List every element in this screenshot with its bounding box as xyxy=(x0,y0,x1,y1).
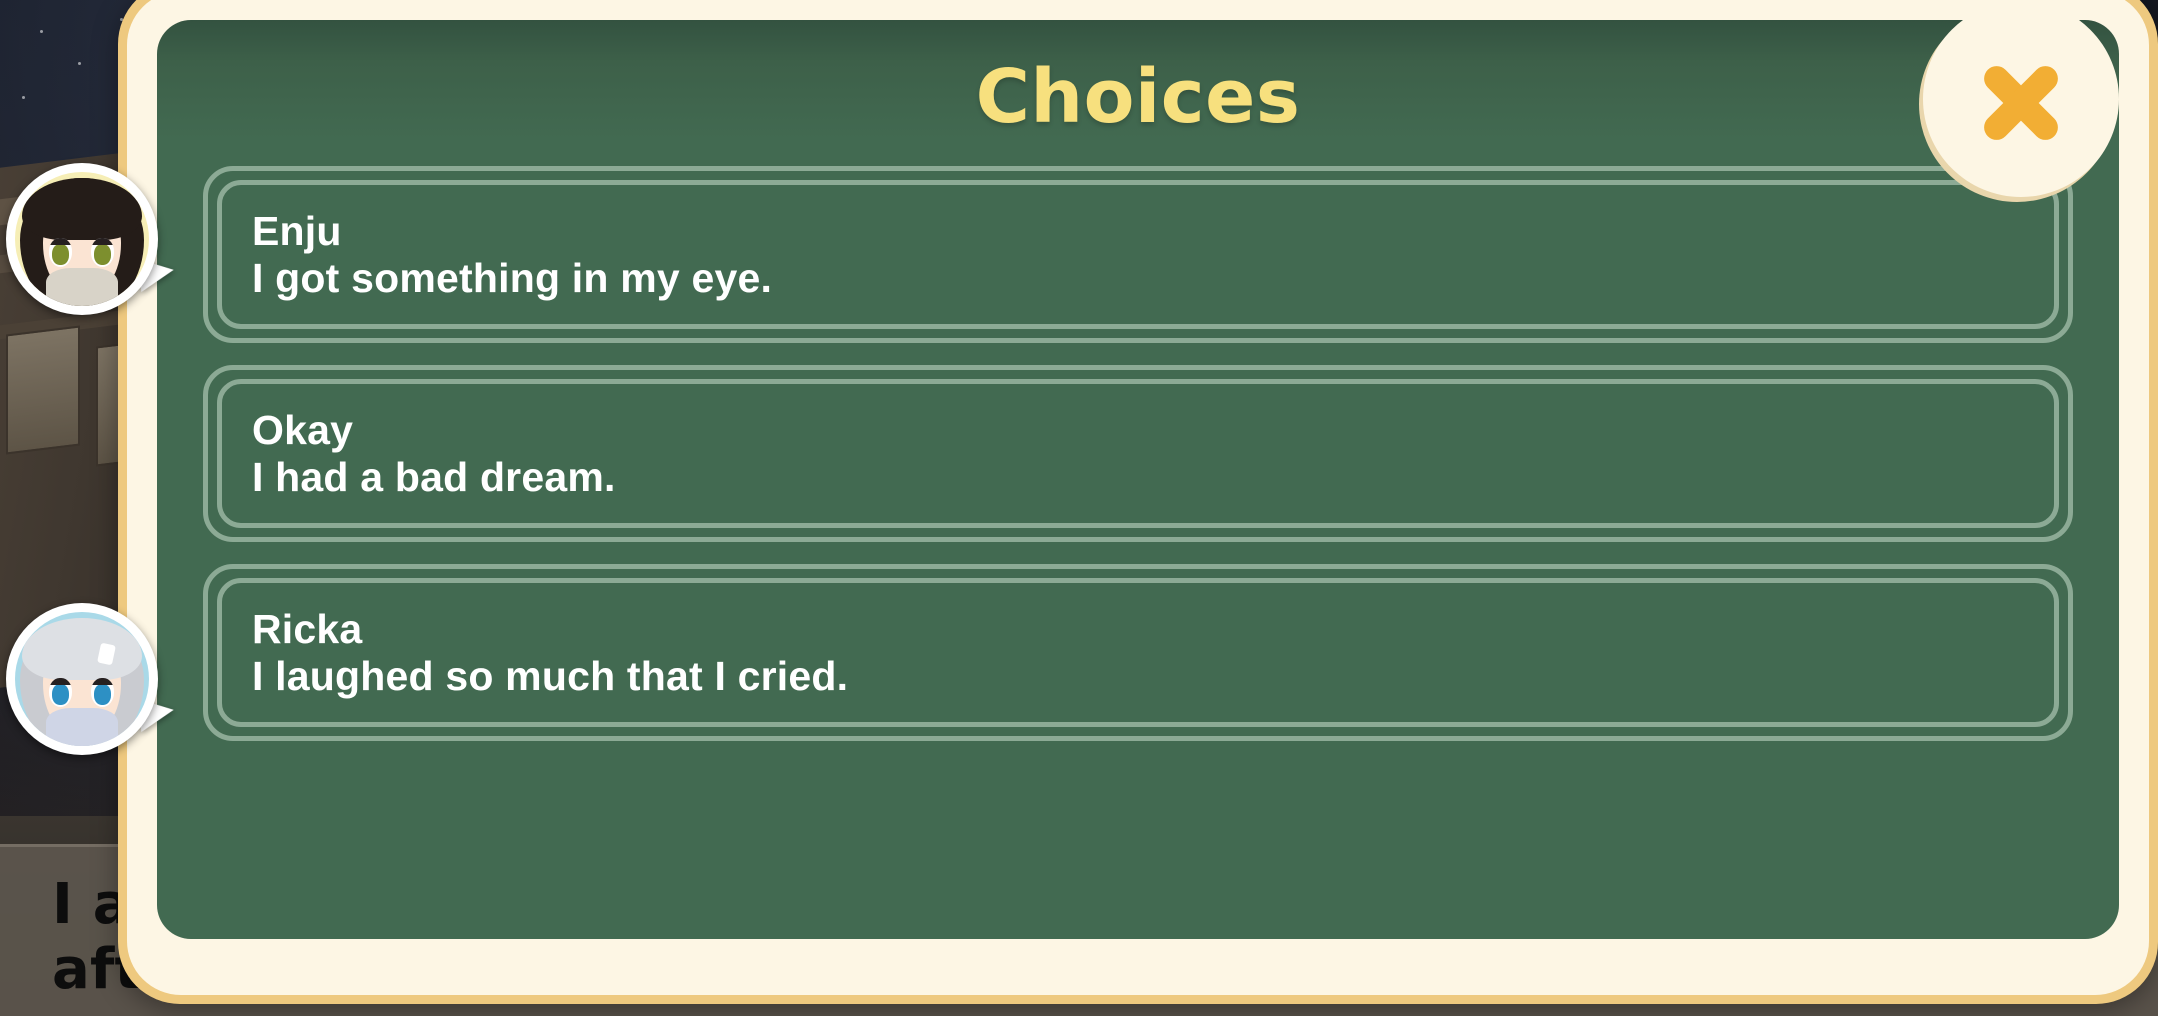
body xyxy=(46,708,118,746)
body xyxy=(46,268,118,306)
star-icon xyxy=(22,96,25,99)
avatar xyxy=(15,172,149,306)
choice-option-2[interactable]: Okay I had a bad dream. xyxy=(203,365,2073,542)
choice-inner-border: Enju I got something in my eye. xyxy=(217,180,2059,329)
choice-list: Enju I got something in my eye. Okay I h… xyxy=(203,166,2073,741)
choice-option-3[interactable]: Ricka I laughed so much that I cried. xyxy=(203,564,2073,741)
eye-right xyxy=(91,238,114,267)
modal-cream-frame: Choices Enju I got something in my eye. … xyxy=(127,0,2149,995)
avatar xyxy=(15,612,149,746)
modal-panel: Choices Enju I got something in my eye. … xyxy=(157,20,2119,939)
eye-left xyxy=(49,238,72,267)
choice-line: I had a bad dream. xyxy=(252,452,2054,502)
eye-left xyxy=(49,678,72,707)
choice-option-1[interactable]: Enju I got something in my eye. xyxy=(203,166,2073,343)
choice-speaker: Ricka xyxy=(252,607,2054,651)
avatar-enju xyxy=(6,163,158,315)
avatar-ricka xyxy=(6,603,158,755)
page-title: Choices xyxy=(157,20,2119,140)
eye-right xyxy=(91,678,114,707)
choice-inner-border: Okay I had a bad dream. xyxy=(217,379,2059,528)
window-pane xyxy=(6,325,80,454)
choice-line: I laughed so much that I cried. xyxy=(252,651,2054,701)
choice-speaker: Okay xyxy=(252,408,2054,452)
choices-modal: Choices Enju I got something in my eye. … xyxy=(118,0,2158,1004)
choice-line: I got something in my eye. xyxy=(252,253,2054,303)
hair-front xyxy=(22,178,142,240)
choice-speaker: Enju xyxy=(252,209,2054,253)
hair-front xyxy=(22,618,142,680)
choice-inner-border: Ricka I laughed so much that I cried. xyxy=(217,578,2059,727)
star-icon xyxy=(40,30,43,33)
close-icon xyxy=(1978,60,2064,146)
star-icon xyxy=(78,62,81,65)
